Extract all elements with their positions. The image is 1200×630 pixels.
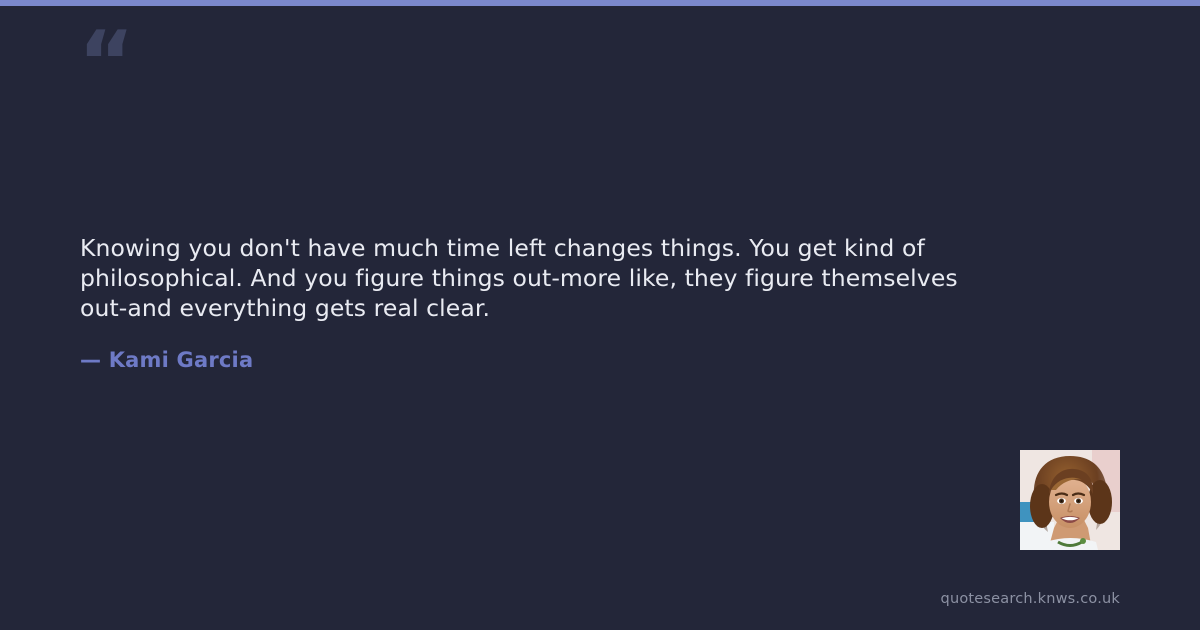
author-portrait-illustration [1020, 450, 1120, 550]
site-watermark: quotesearch.knws.co.uk [941, 591, 1120, 607]
quote-attribution: — Kami Garcia [80, 348, 253, 372]
quote-card: “ Knowing you don't have much time left … [0, 0, 1200, 630]
open-quote-icon: “ [78, 20, 133, 106]
quote-body: Knowing you don't have much time left ch… [80, 233, 960, 323]
top-accent-bar [0, 0, 1200, 6]
author-photo [1020, 450, 1120, 550]
quote-text: Knowing you don't have much time left ch… [80, 233, 960, 323]
